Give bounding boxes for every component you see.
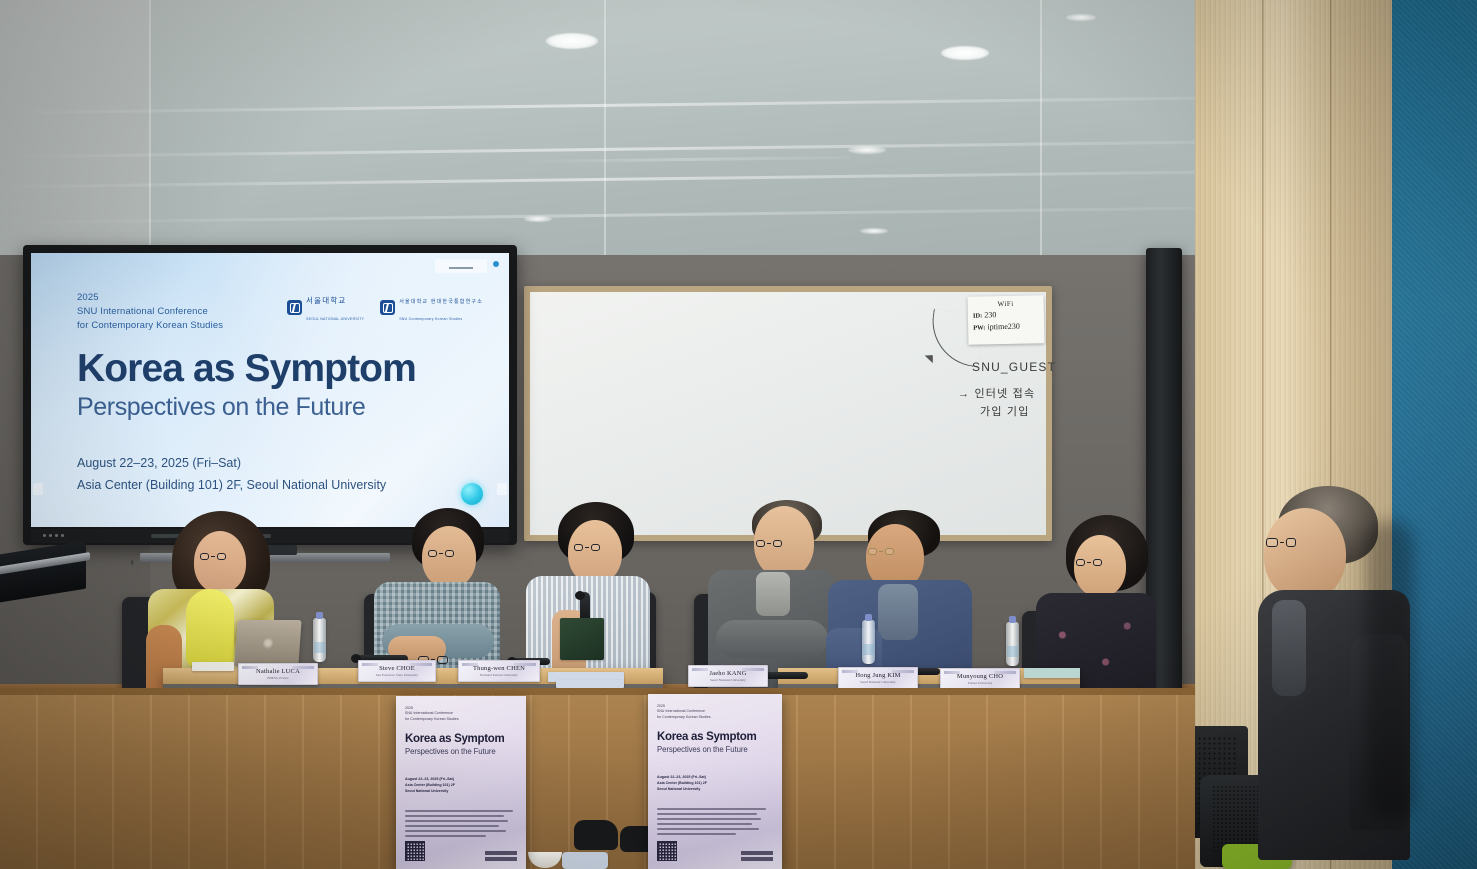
display-port-right: [497, 483, 507, 495]
poster-header-2: for Contemporary Korean Studies: [405, 717, 459, 721]
poster-year: 2025: [657, 704, 665, 708]
poster-body-text: [657, 808, 773, 835]
crossed-arms: [716, 620, 828, 658]
nameplate: Munyoung CHO Yonsei University: [940, 668, 1020, 690]
bag[interactable]: [562, 852, 608, 869]
nameplate-name: Munyoung CHO: [957, 673, 1003, 680]
glasses-icon: [868, 548, 894, 555]
poster-subtitle: Perspectives on the Future: [657, 745, 773, 754]
wifi-id-value: 230: [984, 310, 996, 319]
snu-crest-icon: [287, 300, 302, 315]
nameplate-name: Hong Jung KIM: [855, 672, 900, 679]
ceiling-light: [848, 146, 886, 154]
notebook[interactable]: [560, 618, 604, 660]
papers[interactable]: [192, 662, 234, 671]
handwriting-line-3: 가입 기입: [980, 403, 1030, 419]
nameplate-affiliation: National Taiwan University: [480, 673, 518, 677]
slide-logos: 서울대학교 SEOUL NATIONAL UNIVERSITY 서울대학교 현대…: [287, 291, 483, 325]
snu-logo: 서울대학교 SEOUL NATIONAL UNIVERSITY: [287, 291, 364, 325]
nameplate: Hong Jung KIM Seoul National University: [838, 667, 918, 689]
head: [1264, 508, 1346, 600]
slide-header-line2: for Contemporary Korean Studies: [77, 319, 223, 333]
cks-logo-english: SNU Contemporary Korean Studies: [399, 317, 462, 321]
scarf: [186, 589, 234, 667]
qr-code[interactable]: [405, 841, 425, 861]
slide-header: 2025 SNU International Conference for Co…: [77, 291, 223, 332]
inner-shirt: [1272, 600, 1306, 696]
slide-date: August 22–23, 2025 (Fri–Sat): [77, 453, 386, 475]
papers[interactable]: [1024, 668, 1080, 678]
head: [568, 520, 622, 584]
conference-room-photo: WiFi ID: 230 PW: iptime230 SNU_GUEST → 인…: [0, 0, 1477, 869]
ceiling-light: [860, 228, 888, 234]
inner-shirt: [756, 572, 790, 616]
nameplate: Thung-wen CHEN National Taiwan Universit…: [458, 660, 540, 682]
water-bottle[interactable]: [862, 620, 875, 664]
nameplate-affiliation: Yonsei University: [968, 681, 993, 685]
nameplate-name: Steve CHOE: [379, 665, 415, 672]
nameplate: Jaeho KANG Seoul National University: [688, 665, 768, 687]
nameplate-name: Nathalie LUCA: [256, 668, 300, 675]
presentation-display[interactable]: 2025 SNU International Conference for Co…: [23, 245, 517, 545]
poster-location-2: Seoul National University: [657, 786, 773, 792]
nameplate-affiliation: Seoul National University: [710, 678, 746, 682]
glasses-icon: [1266, 538, 1296, 547]
poster-logos: [485, 851, 517, 861]
glasses-icon: [428, 550, 454, 557]
display-port-left: [33, 483, 43, 495]
slide-subtitle: Perspectives on the Future: [77, 393, 365, 422]
nameplate-affiliation: EHESS, France: [267, 676, 288, 680]
display-power-indicator: [493, 261, 499, 267]
cks-crest-icon: [380, 300, 395, 315]
ceiling-light: [546, 33, 598, 49]
slide-header-year: 2025: [77, 291, 223, 305]
glasses-icon: [200, 553, 226, 560]
nameplate: Nathalie LUCA EHESS, France: [238, 663, 318, 685]
glasses-icon: [1076, 559, 1102, 566]
poster-location-2: Seoul National University: [405, 788, 517, 794]
poster-year: 2025: [405, 706, 413, 710]
poster-logos: [741, 851, 773, 861]
conference-poster-2: 2025 SNU International Conference for Co…: [648, 694, 782, 869]
head: [194, 531, 246, 593]
slide-header-line1: SNU International Conference: [77, 305, 223, 319]
nameplate-affiliation: San Francisco State University: [376, 673, 418, 677]
nameplate-affiliation: Seoul National University: [860, 680, 896, 684]
poster-header-1: SNU International Conference: [405, 711, 453, 715]
snu-logo-korean: 서울대학교: [306, 296, 347, 305]
poster-title: Korea as Symptom: [657, 731, 773, 743]
water-bottle[interactable]: [313, 618, 326, 662]
snu-logo-english: SEOUL NATIONAL UNIVERSITY: [306, 317, 364, 321]
papers[interactable]: [556, 680, 624, 688]
handwriting-line-2: → 인터넷 접속: [958, 385, 1035, 401]
poster-header-1: SNU International Conference: [657, 709, 705, 713]
slide-decorative-sphere: [461, 483, 483, 505]
nameplate-name: Jaeho KANG: [709, 670, 746, 677]
laptop[interactable]: [234, 620, 301, 666]
ceiling-light: [1066, 14, 1096, 21]
poster-header-2: for Contemporary Korean Studies: [657, 715, 711, 719]
ceiling-light: [941, 46, 989, 60]
nameplate-name: Thung-wen CHEN: [473, 665, 525, 672]
slide-canvas: 2025 SNU International Conference for Co…: [31, 253, 509, 527]
slide-title: Korea as Symptom: [77, 347, 416, 391]
cks-logo: 서울대학교 현대한국통합연구소 SNU Contemporary Korean …: [380, 291, 483, 325]
poster-subtitle: Perspectives on the Future: [405, 747, 517, 756]
poster-title: Korea as Symptom: [405, 733, 517, 745]
glass-partition-left: [0, 0, 150, 255]
slide-location: Asia Center (Building 101) 2F, Seoul Nat…: [77, 475, 386, 497]
cks-logo-korean: 서울대학교 현대한국통합연구소: [399, 299, 483, 305]
slide-meta: August 22–23, 2025 (Fri–Sat) Asia Center…: [77, 453, 386, 497]
glasses-icon: [574, 544, 600, 551]
poster-body-text: [405, 810, 517, 837]
inner-shirt: [878, 584, 918, 640]
conference-poster-1: 2025 SNU International Conference for Co…: [396, 696, 526, 869]
shoe: [574, 820, 618, 850]
water-bottle[interactable]: [1006, 622, 1019, 666]
head: [1074, 535, 1126, 597]
qr-code[interactable]: [657, 841, 677, 861]
wifi-pw-value: iptime230: [987, 321, 1020, 331]
display-osd-icon: [435, 259, 487, 273]
head: [422, 526, 476, 588]
ceiling-light: [524, 216, 552, 222]
nameplate: Steve CHOE San Francisco State Universit…: [358, 660, 436, 682]
handwriting-ssid: SNU_GUEST: [972, 360, 1056, 374]
glasses-icon: [756, 540, 782, 547]
